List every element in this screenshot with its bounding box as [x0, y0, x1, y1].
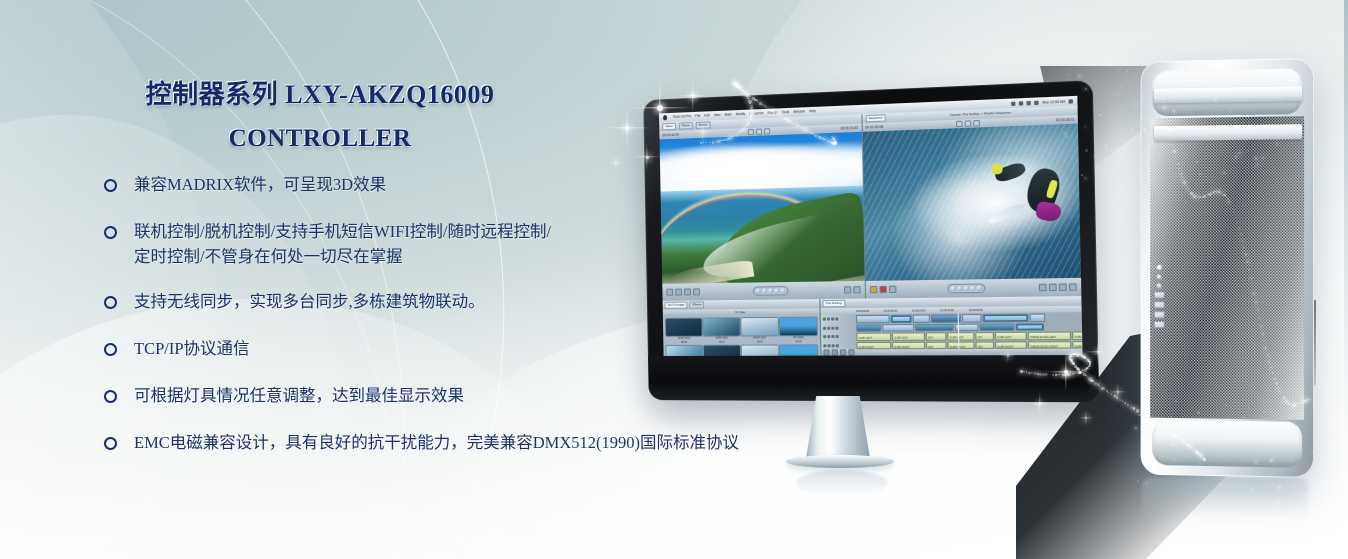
timecode-popup-icon[interactable]	[764, 128, 770, 134]
sparkle-core	[1007, 355, 1009, 357]
track-control-icon[interactable]	[831, 326, 834, 329]
sparkle-particle	[1143, 128, 1146, 131]
sparkle-particle	[1237, 222, 1238, 223]
list-item: EMC电磁兼容设计，具有良好的抗干扰能力，完美兼容DMX512(1990)国际标…	[104, 430, 864, 455]
sparkle-particle	[1173, 458, 1175, 460]
sparkle-particle	[1050, 374, 1051, 375]
menu-item-window[interactable]: Window	[793, 107, 805, 117]
sparkle-particle	[1127, 404, 1129, 406]
timeline-audio-clip[interactable]: SFX	[926, 341, 946, 349]
track-control-icon[interactable]	[827, 344, 830, 347]
firewire-port-icon[interactable]	[1154, 311, 1165, 318]
page-title: 控制器系列 LXY-AKZQ16009	[0, 78, 640, 112]
display-stand-reflection	[796, 470, 888, 496]
track-visibility-icon[interactable]	[823, 344, 826, 347]
clip-duration: 00:09	[666, 341, 702, 344]
sparkle-particle	[700, 142, 702, 144]
sparkle-particle	[1151, 442, 1153, 444]
sparkle-particle	[735, 134, 738, 137]
display-screen: Final Cut Pro File Edit View Mark Modify…	[659, 96, 1082, 356]
sparkle-particle	[1196, 161, 1198, 163]
timeline-video-clip[interactable]	[979, 323, 1014, 331]
sparkle-particle	[1278, 486, 1281, 489]
previous-edit-button[interactable]	[756, 288, 761, 293]
overwrite-edit-icon[interactable]	[879, 286, 887, 293]
audio-track-a1: SURF-LEFTSURF-LEFTSFXSURF-LEFTSFXSURF-LE…	[856, 331, 1082, 340]
tab-video[interactable]: Video	[662, 123, 676, 131]
mark-clip-icon[interactable]	[1059, 283, 1067, 291]
play-in-to-out-button[interactable]	[957, 286, 962, 291]
timeline-audio-clip[interactable]: SURF-LEFT	[892, 332, 925, 340]
play-button[interactable]	[964, 286, 970, 291]
timeline-video-clip[interactable]	[1030, 314, 1046, 322]
display-chin	[648, 355, 1099, 402]
optical-drive-slot-2[interactable]	[1154, 124, 1302, 141]
sparkle-particle	[1276, 143, 1278, 145]
clip-thumbnail	[666, 346, 702, 356]
sparkle-particle	[1219, 483, 1221, 485]
browser-clip-item[interactable]: TURN-004200:06	[704, 346, 740, 356]
mark-in-icon[interactable]	[843, 286, 850, 293]
track-header-column	[821, 314, 857, 349]
sparkle-particle	[1119, 86, 1120, 87]
sparkle-particle	[1273, 378, 1275, 380]
timeline-audio-clip[interactable]: THEME-MUSIC-LEFT	[1028, 332, 1071, 340]
timeline-video-clip[interactable]	[962, 314, 982, 322]
firewire-port-icon[interactable]	[1154, 321, 1165, 328]
sparkle-particle	[1244, 549, 1247, 552]
menu-item-view[interactable]: View	[714, 111, 721, 120]
sparkle-particle	[773, 111, 775, 113]
sparkle-particle	[1104, 388, 1105, 389]
viewer-timecode-left[interactable]: 00:00:41:09	[662, 133, 679, 138]
keyframe-icon[interactable]	[693, 288, 700, 295]
sparkle-particle	[748, 100, 751, 103]
menu-item-mark[interactable]: Mark	[724, 110, 731, 119]
sparkle-particle	[1321, 521, 1323, 523]
sparkle-core	[615, 162, 617, 164]
sparkle-particle	[1084, 177, 1087, 180]
sparkle-particle	[1078, 75, 1080, 77]
track-control-icon[interactable]	[827, 326, 830, 329]
timeline-audio-clip[interactable]: SURF-RIGHT	[892, 341, 925, 349]
sparkle-particle	[1238, 152, 1241, 155]
track-control-icon[interactable]	[832, 344, 835, 347]
sparkle-particle	[1203, 458, 1206, 461]
match-frame-icon[interactable]	[666, 289, 673, 296]
sparkle-particle	[1099, 114, 1101, 116]
tab-motion[interactable]: Motion	[695, 121, 710, 129]
volume-icon[interactable]	[1019, 101, 1023, 105]
track-control-icon[interactable]	[831, 335, 834, 338]
final-cut-pro-window: Final Cut Pro File Edit View Mark Modify…	[659, 96, 1082, 356]
usb-port-icon[interactable]	[1154, 301, 1165, 308]
sparkle-particle	[1246, 529, 1247, 530]
tab-sequence[interactable]: Sequence	[865, 114, 886, 122]
sparkle-particle	[1063, 132, 1065, 134]
feature-text: 可根据灯具情况任意调整，达到最佳显示效果	[134, 383, 464, 408]
tab-filters[interactable]: Filters	[679, 122, 693, 130]
lower-panels: Surf Footage Effects 16 Clips SURF-00140…	[663, 296, 1083, 356]
sparkle-core	[646, 156, 649, 159]
sparkle-particle	[776, 112, 778, 114]
ring-bullet-icon	[104, 296, 117, 309]
ruler-tick-label: 00:00:00:00	[856, 309, 869, 312]
timeline-video-clip[interactable]	[915, 323, 954, 331]
sparkle-particle	[1282, 66, 1283, 67]
transport-controls	[753, 286, 789, 296]
track-control-icon[interactable]	[835, 318, 838, 321]
ruler-tick-label: 01:00:08:00	[884, 309, 897, 312]
browser-clip-item[interactable]: CURL-005500:10	[742, 346, 779, 356]
canvas-left-tools	[869, 286, 895, 294]
next-edit-button[interactable]	[780, 288, 785, 293]
sparkle-particle	[1173, 175, 1174, 176]
sparkle-particle	[1254, 165, 1256, 167]
clip-thumbnail	[780, 318, 817, 336]
menu-bar-clock[interactable]: Mon 10:53 AM	[1042, 99, 1065, 104]
canvas-transport-bar	[865, 278, 1081, 299]
sparkle-particle	[1153, 454, 1154, 455]
track-visibility-icon[interactable]	[823, 335, 826, 338]
sparkle-particle	[1138, 414, 1140, 416]
optical-drive-slot-1[interactable]	[1154, 86, 1302, 103]
sparkle-particle	[1311, 451, 1314, 454]
bluetooth-icon[interactable]	[1012, 101, 1016, 105]
timecode-popup-icon[interactable]	[974, 120, 981, 127]
canvas-timecode-left[interactable]: 00:01:02:08	[865, 125, 883, 130]
sparkle-particle	[1151, 107, 1152, 108]
sparkle-particle	[1197, 411, 1200, 414]
timeline-audio-clip[interactable]: SURF-RIGHT	[856, 341, 891, 349]
sparkle-particle	[1223, 433, 1226, 436]
timeline-audio-clip[interactable]: SURF-LEFT	[1072, 331, 1082, 339]
track-header-a2[interactable]	[821, 342, 856, 350]
sparkle-particle	[750, 96, 751, 97]
battery-icon[interactable]	[1035, 100, 1040, 104]
sparkle-particle	[1253, 536, 1256, 539]
sparkle-particle	[1222, 127, 1224, 129]
sparkle-particle	[1119, 399, 1121, 401]
clip-duration: 00:07	[742, 340, 778, 343]
timeline-audio-clip[interactable]: SFX	[975, 332, 994, 340]
ruler-tick-label: 01:00:32:00	[969, 308, 983, 311]
apple-logo-icon[interactable]	[663, 115, 667, 120]
sparkle-particle	[1261, 66, 1263, 68]
sparkle-particle	[1121, 107, 1122, 108]
clip-name: SKY-0031	[780, 336, 817, 339]
sparkle-particle	[1127, 162, 1128, 163]
sparkle-particle	[1258, 317, 1259, 318]
sparkle-particle	[715, 141, 716, 142]
browser-clip-item[interactable]: COAST-006100:18	[780, 345, 817, 356]
sparkle-particle	[807, 130, 809, 132]
sparkle-particle	[1294, 541, 1296, 543]
viewer-view-options	[748, 128, 770, 135]
feature-text: EMC电磁兼容设计，具有良好的抗干扰能力，完美兼容DMX512(1990)国际标…	[134, 430, 739, 455]
sparkle-particle	[1255, 157, 1257, 159]
sparkle-particle	[1262, 333, 1264, 335]
play-in-to-out-button[interactable]	[762, 288, 767, 293]
video-track-v1	[856, 322, 1082, 331]
timeline-video-clip[interactable]	[891, 315, 912, 323]
sparkle-particle	[1145, 482, 1147, 484]
canvas-right-tools	[1039, 283, 1077, 291]
power-button-icon[interactable]	[1155, 264, 1162, 271]
mark-in-icon[interactable]	[1039, 284, 1047, 292]
sparkle-particle	[1163, 106, 1165, 108]
track-control-icon[interactable]	[827, 318, 830, 321]
sparkle-particle	[1268, 527, 1270, 529]
boardshorts	[1035, 201, 1062, 223]
sparkle-particle	[742, 128, 745, 131]
sparkle-particle	[1178, 437, 1179, 438]
spotlight-icon[interactable]	[1068, 99, 1073, 103]
sparkle-particle	[737, 133, 738, 134]
canvas-image-surfer-wave	[862, 124, 1081, 281]
timeline-panel: The Surfing 00:00:00:0001:00:08:0001:00:…	[820, 296, 1082, 356]
sparkle-particle	[1168, 129, 1170, 131]
canvas-view-options	[956, 120, 980, 127]
display-stand-base	[786, 455, 894, 468]
timeline-video-clip[interactable]	[931, 314, 961, 322]
sparkle-particle	[1275, 382, 1278, 385]
browser-clip-item[interactable]: SURF-003800:11	[666, 346, 702, 356]
sparkle-particle	[709, 142, 710, 143]
track-control-icon[interactable]	[831, 318, 834, 321]
sparkle-particle	[1085, 126, 1086, 127]
track-control-icon[interactable]	[827, 335, 830, 338]
canvas-transport-controls	[948, 283, 986, 293]
sparkle-particle	[1235, 542, 1236, 543]
timeline-video-clip[interactable]	[856, 324, 881, 332]
add-keyframe-icon[interactable]	[1069, 283, 1077, 291]
sparkle-particle	[1175, 435, 1176, 436]
sparkle-particle	[1255, 461, 1256, 462]
mark-clip-icon[interactable]	[675, 289, 682, 296]
surfer-glove	[991, 163, 1003, 175]
banner-canvas: 控制器系列 LXY-AKZQ16009 CONTROLLER 兼容MADRIX软…	[0, 0, 1348, 559]
mark-out-icon[interactable]	[1049, 284, 1057, 292]
sparkle-particle	[1141, 413, 1142, 414]
timeline-audio-clip[interactable]: SURF-RIGHT	[995, 341, 1027, 349]
sparkle-particle	[1267, 95, 1269, 97]
right-edge-accent	[1344, 0, 1348, 559]
sparkle-particle	[1133, 407, 1135, 409]
menu-bar-status-area: Mon 10:53 AM	[1012, 99, 1074, 106]
tab-effects[interactable]: Effects	[690, 301, 705, 308]
sparkle-particle	[1239, 67, 1242, 70]
track-control-icon[interactable]	[836, 335, 839, 338]
sparkle-particle	[1252, 285, 1253, 286]
sparkle-particle	[1251, 488, 1254, 491]
ring-bullet-icon	[104, 226, 117, 239]
tower-reflection	[1142, 478, 1308, 532]
ring-bullet-icon	[104, 343, 117, 356]
sparkle-particle	[1137, 480, 1139, 482]
timeline-audio-clip[interactable]: SURF-RIGHT	[1072, 341, 1082, 349]
sparkle-particle	[1066, 136, 1068, 138]
sparkle-particle	[1081, 174, 1083, 176]
play-around-button[interactable]	[970, 286, 976, 291]
sparkle-particle	[1173, 110, 1176, 113]
clip-name: SURF-0014	[666, 337, 702, 340]
sparkle-particle	[1308, 398, 1310, 400]
timeline-audio-clip[interactable]: SURF-LEFT	[995, 332, 1027, 340]
timeline-video-clip[interactable]	[1015, 323, 1044, 331]
menu-item-modify[interactable]: Modify	[736, 110, 746, 120]
sparkle-particle	[1124, 402, 1126, 404]
clip-thumbnail	[742, 346, 779, 356]
sparkle-particle	[1150, 418, 1152, 420]
sparkle-particle	[1131, 129, 1133, 131]
menu-item-help[interactable]: Help	[809, 107, 816, 117]
sparkle-particle	[1156, 466, 1158, 468]
sparkle-particle	[746, 93, 747, 94]
audio-track-a2: SURF-RIGHTSURF-RIGHTSFXSURF-RIGHTSFXSURF…	[856, 341, 1082, 350]
clip-thumbnail	[703, 318, 739, 335]
previous-edit-button[interactable]	[951, 286, 956, 291]
sparkle-particle	[1225, 404, 1227, 406]
timeline-audio-clip[interactable]: SURF-LEFT	[947, 332, 974, 340]
viewer-left-tools	[666, 288, 700, 295]
sparkle-particle	[832, 137, 835, 140]
wifi-icon[interactable]	[1027, 100, 1031, 104]
timeline-video-clip[interactable]	[856, 315, 890, 323]
sparkle-core	[1085, 417, 1087, 419]
play-around-button[interactable]	[774, 288, 779, 293]
sparkle-particle	[732, 135, 734, 137]
display-stand-neck	[806, 396, 870, 458]
viewer-transport-bar	[662, 281, 864, 301]
canvas-panel: Sequence Canvas: The Surfing — Rhythm Se…	[862, 105, 1081, 298]
tab-surf-footage[interactable]: Surf Footage	[665, 302, 688, 309]
track-visibility-icon[interactable]	[823, 327, 826, 330]
track-visibility-icon[interactable]	[823, 318, 826, 321]
sparkle-particle	[1314, 401, 1316, 403]
headphone-jack-icon[interactable]	[1156, 274, 1162, 280]
clip-thumbnail	[666, 319, 702, 336]
mark-out-icon[interactable]	[853, 286, 860, 293]
tab-the-surfing[interactable]: The Surfing	[822, 300, 844, 307]
video-track-v2	[856, 313, 1082, 323]
play-button[interactable]	[768, 288, 773, 293]
clip-name: SURF-0022	[704, 337, 740, 340]
sparkle-particle	[703, 142, 704, 143]
audio-line-in-icon[interactable]	[1156, 283, 1162, 289]
sparkle-particle	[1106, 390, 1108, 392]
feature-text: TCP/IP协议通信	[134, 336, 250, 361]
browser-clip-item[interactable]: SURF-001400:09	[666, 319, 702, 344]
track-header-a1[interactable]	[821, 333, 856, 341]
sparkle-particle	[1214, 98, 1216, 100]
feature-text: 联机控制/脱机控制/支持手机短信WIFI控制/随时远程控制/ 定时控制/不管身在…	[134, 219, 551, 269]
view-popup-icon[interactable]	[756, 128, 762, 134]
track-control-icon[interactable]	[836, 344, 839, 347]
timeline-audio-clip[interactable]: SURF-RIGHT	[947, 341, 974, 349]
menu-item-file[interactable]: File	[695, 112, 700, 121]
viewer-right-tools	[843, 286, 860, 293]
zoom-popup-icon[interactable]	[748, 129, 754, 135]
track-header-v1[interactable]	[821, 324, 856, 332]
tower-mesh-grille	[1150, 116, 1304, 420]
sparkle-particle	[1331, 422, 1333, 424]
track-control-icon[interactable]	[835, 326, 838, 329]
sparkle-particle	[1323, 479, 1325, 481]
clip-duration: 00:12	[704, 341, 740, 344]
viewer-image-rainbow-coastline	[660, 132, 865, 284]
sparkle-particle	[1227, 198, 1229, 200]
zoom-popup-icon[interactable]	[956, 121, 963, 128]
clip-thumbnail	[704, 346, 740, 356]
sparkle-core	[691, 94, 694, 97]
sparkle-particle	[1240, 233, 1242, 235]
browser-clip-item[interactable]: SURF-002200:12	[703, 318, 739, 344]
sparkle-particle	[1248, 407, 1249, 408]
next-edit-button[interactable]	[977, 286, 983, 291]
ring-bullet-icon	[104, 437, 117, 450]
page-title-block: 控制器系列 LXY-AKZQ16009 CONTROLLER	[0, 78, 640, 156]
timeline-video-clip[interactable]	[882, 324, 914, 332]
timeline-audio-clip[interactable]: SURF-LEFT	[856, 333, 891, 341]
clip-thumbnail	[780, 345, 817, 356]
front-io-port-cluster	[1152, 264, 1165, 328]
sparkle-particle	[1158, 153, 1159, 154]
sparkle-particle	[1303, 494, 1306, 497]
timeline-video-clip[interactable]	[983, 314, 1029, 322]
usb-port-icon[interactable]	[1154, 292, 1165, 299]
sparkle-particle	[1272, 83, 1275, 86]
sparkle-particle	[1180, 173, 1182, 175]
timeline-audio-clip[interactable]: SFX	[926, 332, 946, 340]
sparkle-particle	[779, 114, 781, 116]
feature-text: 支持无线同步，实现多台同步,多栋建筑物联动。	[134, 289, 485, 314]
browser-clip-item[interactable]: WAVE-000700:07	[741, 318, 778, 344]
ring-bullet-icon	[104, 179, 117, 192]
sparkle-particle	[750, 115, 752, 117]
browser-clip-item[interactable]: SKY-003100:15	[780, 318, 817, 344]
sparkle-particle	[1183, 181, 1185, 183]
insert-edit-icon[interactable]	[869, 286, 876, 293]
viewer-timecode-right[interactable]: 00:00:14:22	[840, 126, 858, 131]
feature-text: 兼容MADRIX软件，可呈现3D效果	[134, 172, 386, 197]
view-popup-icon[interactable]	[965, 120, 972, 127]
timeline-audio-clip[interactable]: SFX	[975, 341, 994, 349]
clip-name: WAVE-0007	[742, 336, 778, 339]
sparkle-particle	[1169, 144, 1171, 146]
ring-bullet-icon	[104, 390, 117, 403]
browser-panel: Surf Footage Effects 16 Clips SURF-00140…	[663, 299, 822, 356]
replace-edit-icon[interactable]	[888, 286, 896, 293]
sparkle-particle	[745, 125, 746, 126]
browser-thumbnail-grid: SURF-001400:09SURF-002200:12WAVE-000700:…	[663, 314, 821, 355]
menu-item-edit[interactable]: Edit	[704, 111, 710, 120]
sparkle-particle	[1170, 137, 1172, 139]
sparkle-particle	[1271, 474, 1273, 476]
sparkle-particle	[1247, 150, 1249, 152]
sparkle-particle	[1087, 376, 1088, 377]
timeline-video-clip[interactable]	[913, 315, 930, 323]
sparkle-particle	[757, 100, 758, 101]
track-header-v2[interactable]	[821, 315, 856, 323]
track-lanes: SURF-LEFTSURF-LEFTSFXSURF-LEFTSFXSURF-LE…	[856, 312, 1083, 349]
sparkle-particle	[747, 97, 749, 99]
clip-thumbnail	[741, 318, 778, 336]
timeline-audio-clip[interactable]: THEME-MUSIC-RIGHT	[1028, 341, 1071, 349]
surfer-figure	[1004, 161, 1063, 233]
add-edit-icon[interactable]	[684, 288, 691, 295]
sparkle-particle	[1250, 277, 1252, 279]
